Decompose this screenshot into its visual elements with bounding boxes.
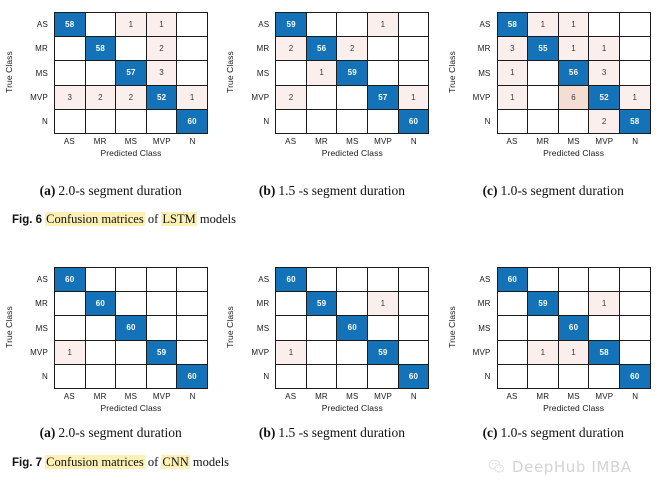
matrix-cell: 3 <box>55 86 86 110</box>
matrix-cell <box>116 37 147 61</box>
subcaption-c: (c)1.0-s segment duration <box>443 422 664 444</box>
subcaption-label: 1.0-s segment duration <box>501 183 624 199</box>
matrix-cell: 59 <box>368 341 399 365</box>
x-tick-mvp: MVP <box>146 135 177 148</box>
matrix-cell: 1 <box>116 13 147 37</box>
matrix-cell <box>528 61 559 85</box>
y-tick-mr: MR <box>235 36 273 60</box>
y-axis-tick-labels: ASMRMSMVPN <box>235 12 273 134</box>
matrix-cell <box>276 365 307 389</box>
watermark-text: DeepHub IMBA <box>512 458 632 476</box>
matrix-cell: 58 <box>86 37 117 61</box>
subcaption-letter: (c) <box>483 183 498 199</box>
matrix-cell: 52 <box>147 86 178 110</box>
x-tick-ms: MS <box>558 390 589 403</box>
x-tick-n: N <box>620 390 651 403</box>
matrix-cell <box>620 292 651 316</box>
matrix-cell <box>86 341 117 365</box>
matrix-cell: 60 <box>55 268 86 292</box>
y-tick-as: AS <box>457 267 495 291</box>
matrix-cell: 1 <box>559 37 590 61</box>
y-axis-title-text: True Class <box>225 306 235 348</box>
x-tick-n: N <box>177 135 208 148</box>
x-tick-ms: MS <box>116 135 147 148</box>
matrix-cell <box>368 110 399 134</box>
matrix-cell <box>337 292 368 316</box>
matrix-cell <box>147 268 178 292</box>
subcaption-a: (a)2.0-s segment duration <box>0 180 221 202</box>
confusion-matrix-panel-b: True ClassASMRMSMVPN605916015960ASMRMSMV… <box>221 257 442 427</box>
matrix-cell <box>620 61 651 85</box>
matrix-cell <box>559 110 590 134</box>
matrix-cell: 55 <box>528 37 559 61</box>
confusion-matrix-grid: 605916015960 <box>275 267 429 389</box>
matrix-cell <box>86 13 117 37</box>
matrix-cell <box>528 86 559 110</box>
x-axis-title: Predicted Class <box>275 403 429 413</box>
matrix-cell <box>177 341 208 365</box>
y-tick-as: AS <box>14 267 52 291</box>
matrix-cell <box>337 365 368 389</box>
matrix-cell <box>307 110 338 134</box>
figure-7-matrix-row: True ClassASMRMSMVPN60606015960ASMRMSMVP… <box>0 257 664 427</box>
y-tick-as: AS <box>235 267 273 291</box>
y-tick-mvp: MVP <box>235 85 273 109</box>
y-tick-as: AS <box>457 12 495 36</box>
x-tick-mvp: MVP <box>368 135 399 148</box>
y-tick-mr: MR <box>457 36 495 60</box>
matrix-cell <box>147 365 178 389</box>
matrix-cell: 1 <box>399 86 430 110</box>
y-tick-mvp: MVP <box>457 85 495 109</box>
subcaption-label: 2.0-s segment duration <box>58 425 181 441</box>
matrix-cell: 1 <box>368 292 399 316</box>
y-tick-n: N <box>14 110 52 134</box>
x-tick-as: AS <box>54 135 85 148</box>
matrix-cell <box>116 268 147 292</box>
y-tick-mr: MR <box>14 36 52 60</box>
matrix-cell: 1 <box>528 13 559 37</box>
matrix-cell: 59 <box>276 13 307 37</box>
x-axis-title: Predicted Class <box>275 148 429 158</box>
y-axis-title-text: True Class <box>225 51 235 93</box>
matrix-cell: 1 <box>307 61 338 85</box>
matrix-cell <box>498 341 529 365</box>
matrix-cell <box>55 365 86 389</box>
matrix-cell: 1 <box>368 13 399 37</box>
figure-number: Fig. 7 <box>12 457 42 469</box>
x-tick-ms: MS <box>116 390 147 403</box>
matrix-cell <box>368 37 399 61</box>
x-axis-title: Predicted Class <box>497 403 651 413</box>
matrix-cell: 58 <box>620 110 651 134</box>
matrix-cell <box>177 37 208 61</box>
matrix-cell <box>55 37 86 61</box>
y-axis-tick-labels: ASMRMSMVPN <box>14 267 52 389</box>
x-tick-as: AS <box>497 135 528 148</box>
y-tick-mvp: MVP <box>457 340 495 364</box>
confusion-matrix-panel-a: True ClassASMRMSMVPN60606015960ASMRMSMVP… <box>0 257 221 427</box>
matrix-cell: 1 <box>620 86 651 110</box>
matrix-cell <box>177 13 208 37</box>
matrix-cell <box>528 365 559 389</box>
matrix-cell <box>368 268 399 292</box>
x-axis-title: Predicted Class <box>54 148 208 158</box>
matrix-cell <box>528 110 559 134</box>
matrix-cell <box>498 110 529 134</box>
matrix-cell <box>86 365 117 389</box>
caption-text: of <box>145 212 162 226</box>
matrix-cell <box>147 316 178 340</box>
matrix-cell <box>399 61 430 85</box>
y-tick-mvp: MVP <box>14 85 52 109</box>
x-tick-as: AS <box>275 390 306 403</box>
y-tick-n: N <box>235 110 273 134</box>
confusion-matrix-grid: 6059160115860 <box>497 267 651 389</box>
matrix-cell: 6 <box>559 86 590 110</box>
x-tick-mvp: MVP <box>146 390 177 403</box>
y-axis-title-text: True Class <box>4 306 14 348</box>
matrix-cell <box>307 365 338 389</box>
matrix-cell <box>399 316 430 340</box>
confusion-matrix-grid: 60606015960 <box>54 267 208 389</box>
matrix-cell <box>55 110 86 134</box>
y-tick-mr: MR <box>235 291 273 315</box>
matrix-cell <box>559 365 590 389</box>
x-axis-tick-labels: ASMRMSMVPN <box>275 390 429 403</box>
matrix-cell <box>620 13 651 37</box>
caption-highlight: Confusion matrices <box>45 455 145 469</box>
matrix-cell: 3 <box>589 61 620 85</box>
matrix-cell: 52 <box>589 86 620 110</box>
subcaption-letter: (b) <box>259 183 276 199</box>
y-axis-tick-labels: ASMRMSMVPN <box>457 267 495 389</box>
y-tick-mr: MR <box>457 291 495 315</box>
figure-number: Fig. 6 <box>12 214 42 226</box>
subcaption-letter: (c) <box>483 425 498 441</box>
matrix-cell: 1 <box>55 341 86 365</box>
matrix-cell: 58 <box>498 13 529 37</box>
matrix-cell: 2 <box>86 86 117 110</box>
x-tick-ms: MS <box>558 135 589 148</box>
y-tick-ms: MS <box>14 61 52 85</box>
matrix-cell: 2 <box>116 86 147 110</box>
confusion-matrix-grid: 5912562159257160 <box>275 12 429 134</box>
matrix-cell <box>307 86 338 110</box>
x-tick-as: AS <box>54 390 85 403</box>
matrix-cell <box>620 37 651 61</box>
matrix-cell: 60 <box>116 316 147 340</box>
x-tick-as: AS <box>275 135 306 148</box>
matrix-cell <box>399 292 430 316</box>
subcaption-letter: (a) <box>40 183 56 199</box>
matrix-cell <box>276 61 307 85</box>
figure-7-caption: Fig. 7 Confusion matrices of CNN models <box>12 455 229 470</box>
matrix-cell <box>589 365 620 389</box>
caption-text: models <box>197 212 236 226</box>
matrix-cell: 60 <box>337 316 368 340</box>
matrix-cell <box>368 61 399 85</box>
matrix-cell: 60 <box>399 110 430 134</box>
matrix-cell: 2 <box>276 86 307 110</box>
caption-highlight: LSTM <box>161 212 196 226</box>
matrix-cell <box>86 61 117 85</box>
matrix-cell: 56 <box>307 37 338 61</box>
y-tick-mvp: MVP <box>14 340 52 364</box>
confusion-matrix-panel-b: True ClassASMRMSMVPN5912562159257160ASMR… <box>221 2 442 172</box>
x-tick-n: N <box>398 135 429 148</box>
wechat-icon <box>487 457 506 476</box>
x-axis-tick-labels: ASMRMSMVPN <box>54 390 208 403</box>
x-tick-as: AS <box>497 390 528 403</box>
matrix-cell <box>276 110 307 134</box>
matrix-cell: 59 <box>307 292 338 316</box>
matrix-cell <box>337 13 368 37</box>
matrix-cell <box>55 292 86 316</box>
matrix-cell <box>116 341 147 365</box>
caption-text: models <box>190 455 229 469</box>
matrix-cell <box>116 292 147 316</box>
matrix-cell <box>589 268 620 292</box>
matrix-cell <box>177 316 208 340</box>
matrix-cell: 59 <box>147 341 178 365</box>
confusion-matrix-grid: 581158257332252160 <box>54 12 208 134</box>
matrix-cell <box>116 110 147 134</box>
matrix-cell: 1 <box>498 61 529 85</box>
confusion-matrix-panel-c: True ClassASMRMSMVPN6059160115860ASMRMSM… <box>443 257 664 427</box>
matrix-cell <box>276 316 307 340</box>
y-tick-ms: MS <box>14 316 52 340</box>
matrix-cell <box>498 316 529 340</box>
y-axis-tick-labels: ASMRMSMVPN <box>14 12 52 134</box>
matrix-cell: 60 <box>177 110 208 134</box>
matrix-cell: 58 <box>589 341 620 365</box>
figure-6-matrix-row: True ClassASMRMSMVPN581158257332252160AS… <box>0 2 664 172</box>
x-tick-ms: MS <box>337 135 368 148</box>
y-tick-ms: MS <box>457 61 495 85</box>
matrix-cell: 60 <box>276 268 307 292</box>
watermark: DeepHub IMBA <box>487 457 632 476</box>
y-tick-n: N <box>457 110 495 134</box>
subcaption-b: (b)1.5 -s segment duration <box>221 180 442 202</box>
matrix-cell <box>620 341 651 365</box>
figure-6-caption: Fig. 6 Confusion matrices of LSTM models <box>12 212 236 227</box>
confusion-matrix-panel-a: True ClassASMRMSMVPN581158257332252160AS… <box>0 2 221 172</box>
matrix-cell <box>620 268 651 292</box>
subcaption-c: (c)1.0-s segment duration <box>443 180 664 202</box>
x-axis-tick-labels: ASMRMSMVPN <box>275 135 429 148</box>
matrix-cell <box>86 110 117 134</box>
y-tick-mvp: MVP <box>235 340 273 364</box>
subcaption-letter: (a) <box>40 425 56 441</box>
matrix-cell <box>498 292 529 316</box>
x-tick-n: N <box>620 135 651 148</box>
y-axis-title-text: True Class <box>447 306 457 348</box>
matrix-cell: 60 <box>399 365 430 389</box>
x-axis-tick-labels: ASMRMSMVPN <box>54 135 208 148</box>
matrix-cell <box>589 316 620 340</box>
matrix-cell <box>276 292 307 316</box>
x-tick-mr: MR <box>306 390 337 403</box>
x-tick-mr: MR <box>85 135 116 148</box>
matrix-cell: 59 <box>337 61 368 85</box>
matrix-cell: 1 <box>177 86 208 110</box>
y-tick-as: AS <box>14 12 52 36</box>
matrix-cell <box>177 268 208 292</box>
x-axis-tick-labels: ASMRMSMVPN <box>497 135 651 148</box>
matrix-cell: 60 <box>177 365 208 389</box>
matrix-cell: 59 <box>528 292 559 316</box>
subcaption-label: 1.5 -s segment duration <box>278 183 405 199</box>
subcaption-label: 2.0-s segment duration <box>58 183 181 199</box>
matrix-cell: 3 <box>498 37 529 61</box>
y-axis-tick-labels: ASMRMSMVPN <box>457 12 495 134</box>
matrix-cell <box>399 37 430 61</box>
matrix-cell: 1 <box>559 341 590 365</box>
matrix-cell: 1 <box>528 341 559 365</box>
y-axis-tick-labels: ASMRMSMVPN <box>235 267 273 389</box>
x-tick-ms: MS <box>337 390 368 403</box>
matrix-cell: 1 <box>589 292 620 316</box>
matrix-cell <box>307 268 338 292</box>
confusion-matrix-grid: 581135511156316521258 <box>497 12 651 134</box>
matrix-cell: 1 <box>498 86 529 110</box>
x-tick-mr: MR <box>527 390 558 403</box>
matrix-cell: 1 <box>589 37 620 61</box>
matrix-cell: 57 <box>116 61 147 85</box>
confusion-matrix-panel-c: True ClassASMRMSMVPN58113551115631652125… <box>443 2 664 172</box>
y-tick-n: N <box>457 365 495 389</box>
matrix-cell <box>399 13 430 37</box>
matrix-cell <box>177 292 208 316</box>
matrix-cell: 2 <box>147 37 178 61</box>
matrix-cell <box>399 268 430 292</box>
y-tick-n: N <box>14 365 52 389</box>
matrix-cell: 2 <box>337 37 368 61</box>
matrix-cell <box>147 292 178 316</box>
matrix-cell <box>55 61 86 85</box>
matrix-cell: 60 <box>498 268 529 292</box>
matrix-cell: 60 <box>620 365 651 389</box>
y-tick-mr: MR <box>14 291 52 315</box>
x-tick-mvp: MVP <box>589 390 620 403</box>
matrix-cell <box>528 316 559 340</box>
matrix-cell: 3 <box>147 61 178 85</box>
x-tick-n: N <box>398 390 429 403</box>
matrix-cell <box>307 316 338 340</box>
matrix-cell <box>399 341 430 365</box>
matrix-cell <box>620 316 651 340</box>
y-tick-n: N <box>235 365 273 389</box>
matrix-cell: 1 <box>559 13 590 37</box>
matrix-cell: 60 <box>86 292 117 316</box>
y-axis-title-text: True Class <box>447 51 457 93</box>
y-tick-as: AS <box>235 12 273 36</box>
y-tick-ms: MS <box>235 316 273 340</box>
x-tick-mr: MR <box>527 135 558 148</box>
matrix-cell <box>147 110 178 134</box>
matrix-cell <box>368 365 399 389</box>
caption-highlight: Confusion matrices <box>45 212 145 226</box>
subcaption-b: (b)1.5 -s segment duration <box>221 422 442 444</box>
matrix-cell: 56 <box>559 61 590 85</box>
matrix-cell <box>337 110 368 134</box>
matrix-cell: 60 <box>559 316 590 340</box>
caption-text: of <box>145 455 162 469</box>
matrix-cell <box>86 316 117 340</box>
matrix-cell <box>337 268 368 292</box>
x-tick-mr: MR <box>85 390 116 403</box>
matrix-cell <box>337 86 368 110</box>
x-axis-title: Predicted Class <box>497 148 651 158</box>
subcaption-a: (a)2.0-s segment duration <box>0 422 221 444</box>
matrix-cell <box>307 13 338 37</box>
x-tick-mvp: MVP <box>368 390 399 403</box>
matrix-cell <box>307 341 338 365</box>
matrix-cell: 2 <box>276 37 307 61</box>
matrix-cell <box>528 268 559 292</box>
caption-highlight: CNN <box>161 455 189 469</box>
figure-6-subcaptions: (a)2.0-s segment duration(b)1.5 -s segme… <box>0 180 664 202</box>
y-tick-ms: MS <box>457 316 495 340</box>
matrix-cell <box>589 13 620 37</box>
matrix-cell: 57 <box>368 86 399 110</box>
matrix-cell: 2 <box>589 110 620 134</box>
subcaption-label: 1.0-s segment duration <box>501 425 624 441</box>
x-tick-n: N <box>177 390 208 403</box>
x-tick-mvp: MVP <box>589 135 620 148</box>
y-tick-ms: MS <box>235 61 273 85</box>
x-axis-tick-labels: ASMRMSMVPN <box>497 390 651 403</box>
x-tick-mr: MR <box>306 135 337 148</box>
subcaption-label: 1.5 -s segment duration <box>278 425 405 441</box>
matrix-cell <box>86 268 117 292</box>
matrix-cell: 58 <box>55 13 86 37</box>
matrix-cell <box>177 61 208 85</box>
figure-7-subcaptions: (a)2.0-s segment duration(b)1.5 -s segme… <box>0 422 664 444</box>
matrix-cell <box>368 316 399 340</box>
matrix-cell <box>498 365 529 389</box>
y-axis-title-text: True Class <box>4 51 14 93</box>
matrix-cell <box>116 365 147 389</box>
matrix-cell <box>337 341 368 365</box>
matrix-cell <box>559 268 590 292</box>
matrix-cell: 1 <box>147 13 178 37</box>
subcaption-letter: (b) <box>259 425 276 441</box>
matrix-cell <box>559 292 590 316</box>
matrix-cell: 1 <box>276 341 307 365</box>
x-axis-title: Predicted Class <box>54 403 208 413</box>
matrix-cell <box>55 316 86 340</box>
